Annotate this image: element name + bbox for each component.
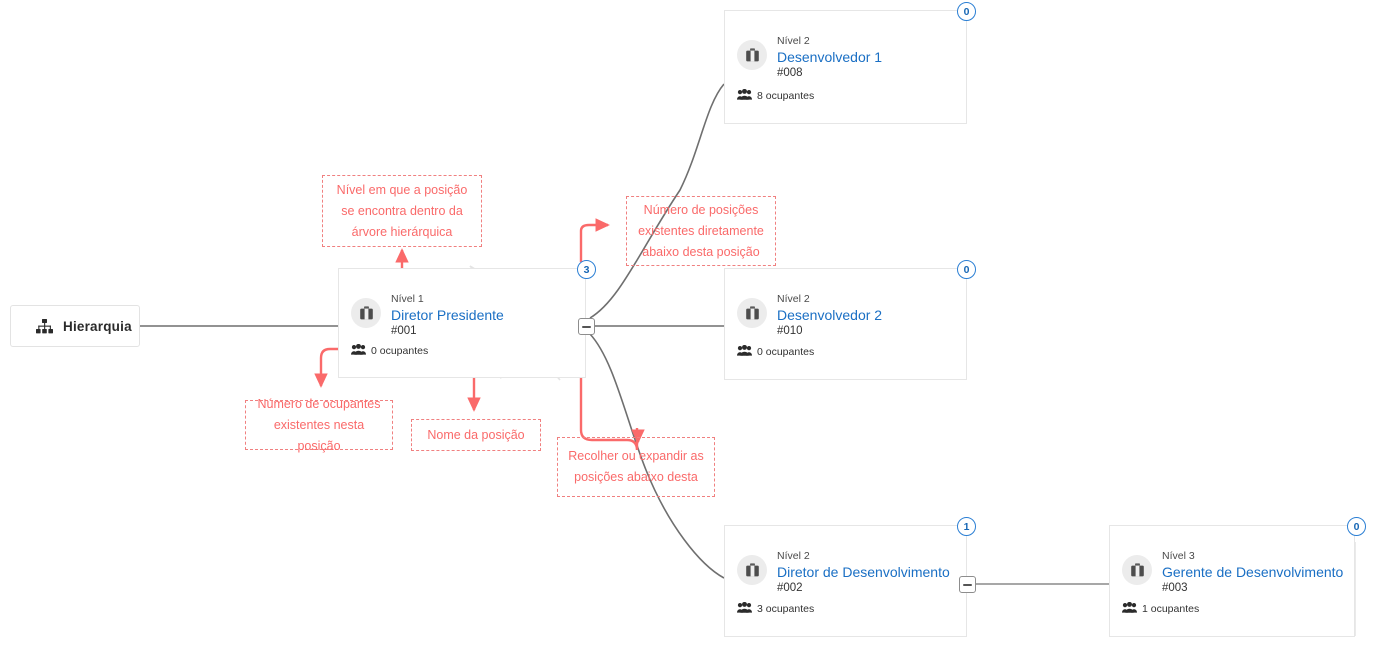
occupants-row: 0 ocupantes: [351, 342, 428, 360]
children-count-badge[interactable]: 3: [577, 260, 596, 279]
position-level: Nível 2: [777, 550, 950, 563]
hierarchy-root-chip[interactable]: Hierarquia: [10, 305, 140, 347]
position-card-003[interactable]: Nível 3 Gerente de Desenvolvimento #003 …: [1109, 525, 1355, 637]
card-header: Nível 2 Desenvolvedor 1 #008: [737, 35, 882, 81]
position-code: #002: [777, 581, 950, 596]
position-level: Nível 1: [391, 293, 504, 306]
position-level: Nível 2: [777, 35, 882, 48]
card-header: Nível 2 Diretor de Desenvolvimento #002: [737, 550, 950, 596]
briefcase-icon: [1122, 555, 1152, 585]
position-code: #008: [777, 66, 882, 81]
people-group-icon: [351, 342, 366, 360]
children-count-badge[interactable]: 1: [957, 517, 976, 536]
occupants-count: 0 ocupantes: [371, 345, 428, 357]
position-level: Nível 3: [1162, 550, 1343, 563]
minus-icon: [582, 326, 591, 328]
collapse-expand-toggle[interactable]: [959, 576, 976, 593]
occupants-row: 1 ocupantes: [1122, 600, 1199, 618]
occupants-count: 3 ocupantes: [757, 603, 814, 615]
hierarchy-icon: [31, 319, 57, 334]
position-title[interactable]: Diretor de Desenvolvimento: [777, 563, 950, 581]
position-title[interactable]: Desenvolvedor 2: [777, 306, 882, 324]
position-title[interactable]: Gerente de Desenvolvimento: [1162, 563, 1343, 581]
position-card-008[interactable]: Nível 2 Desenvolvedor 1 #008 8 ocupantes…: [724, 10, 967, 124]
position-code: #010: [777, 324, 882, 339]
occupants-count: 0 ocupantes: [757, 346, 814, 358]
minus-icon: [963, 584, 972, 586]
briefcase-icon: [737, 298, 767, 328]
annotation-level: Nível em que a posição se encontra dentr…: [322, 175, 482, 247]
position-title[interactable]: Desenvolvedor 1: [777, 48, 882, 66]
occupants-row: 8 ocupantes: [737, 87, 814, 105]
annotation-children-count: Número de posições existentes diretament…: [626, 196, 776, 266]
position-code: #001: [391, 324, 504, 339]
position-card-002[interactable]: Nível 2 Diretor de Desenvolvimento #002 …: [724, 525, 967, 637]
children-count-badge[interactable]: 0: [957, 260, 976, 279]
people-group-icon: [737, 87, 752, 105]
people-group-icon: [737, 600, 752, 618]
position-code: #003: [1162, 581, 1343, 596]
annotation-occupants: Número de ocupantes existentes nesta pos…: [245, 400, 393, 450]
position-title[interactable]: Diretor Presidente: [391, 306, 504, 324]
card-header: Nível 2 Desenvolvedor 2 #010: [737, 293, 882, 339]
people-group-icon: [737, 343, 752, 361]
children-count-badge[interactable]: 0: [957, 2, 976, 21]
position-level: Nível 2: [777, 293, 882, 306]
occupants-row: 0 ocupantes: [737, 343, 814, 361]
occupants-count: 8 ocupantes: [757, 90, 814, 102]
position-card-001[interactable]: Nível 1 Diretor Presidente #001 0 ocupan…: [338, 268, 586, 378]
org-chart-canvas: Hierarquia Nível 1 Diretor Presidente #0…: [0, 0, 1378, 659]
children-count-badge[interactable]: 0: [1347, 517, 1366, 536]
briefcase-icon: [737, 555, 767, 585]
briefcase-icon: [351, 298, 381, 328]
collapse-expand-toggle[interactable]: [578, 318, 595, 335]
hierarchy-root-label: Hierarquia: [63, 319, 132, 334]
people-group-icon: [1122, 600, 1137, 618]
card-header: Nível 3 Gerente de Desenvolvimento #003: [1122, 550, 1343, 596]
annotation-toggle: Recolher ou expandir as posições abaixo …: [557, 437, 715, 497]
annotation-position-name: Nome da posição: [411, 419, 541, 451]
occupants-count: 1 ocupantes: [1142, 603, 1199, 615]
briefcase-icon: [737, 40, 767, 70]
card-header: Nível 1 Diretor Presidente #001: [351, 293, 504, 339]
position-card-010[interactable]: Nível 2 Desenvolvedor 2 #010 0 ocupantes…: [724, 268, 967, 380]
occupants-row: 3 ocupantes: [737, 600, 814, 618]
